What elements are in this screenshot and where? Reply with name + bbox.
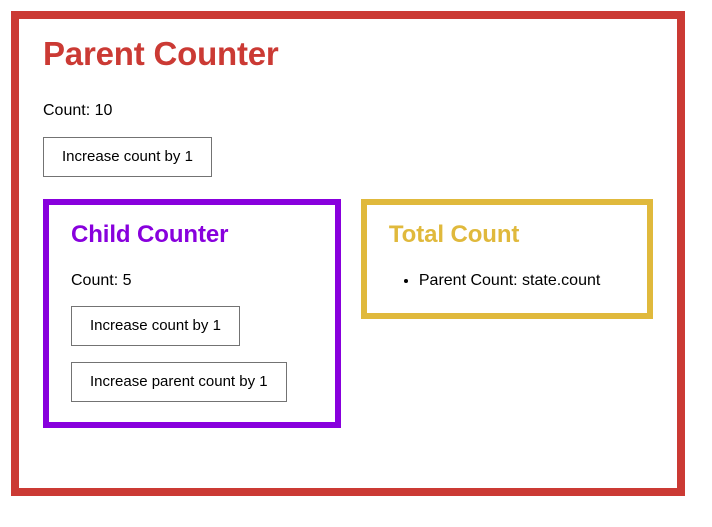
child-increase-parent-count-button[interactable]: Increase parent count by 1: [71, 362, 287, 402]
panels-row: Child Counter Count: 5 Increase count by…: [43, 199, 653, 428]
parent-counter-title: Parent Counter: [43, 35, 653, 73]
parent-counter-card: Parent Counter Count: 10 Increase count …: [11, 11, 685, 496]
child-count-value: Count: 5: [71, 271, 313, 290]
parent-counter-content: Parent Counter Count: 10 Increase count …: [19, 19, 677, 448]
parent-increase-count-button[interactable]: Increase count by 1: [43, 137, 212, 177]
list-item: Parent Count: state.count: [419, 271, 625, 291]
child-counter-title: Child Counter: [71, 221, 313, 249]
total-count-card: Total Count Parent Count: state.count: [361, 199, 653, 319]
total-count-list: Parent Count: state.count: [389, 271, 625, 291]
app-root: Parent Counter Count: 10 Increase count …: [0, 0, 712, 527]
child-increase-count-button[interactable]: Increase count by 1: [71, 306, 240, 346]
child-counter-card: Child Counter Count: 5 Increase count by…: [43, 199, 341, 428]
parent-count-value: Count: 10: [43, 101, 653, 120]
total-count-title: Total Count: [389, 221, 625, 249]
